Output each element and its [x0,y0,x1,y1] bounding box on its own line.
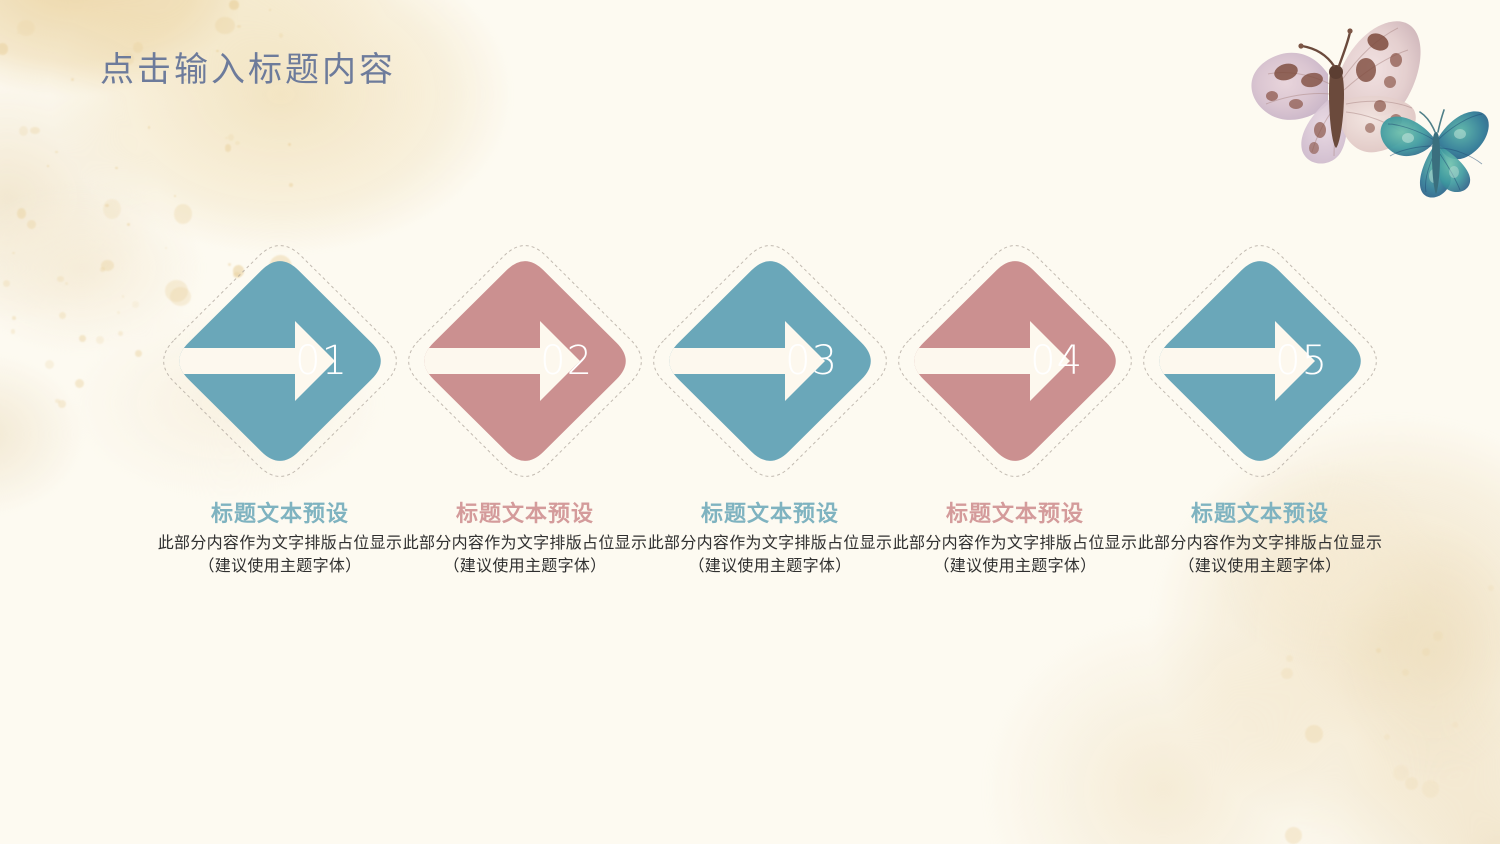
step-caption-body-line2: 位显示 [598,535,647,552]
step-caption-03: 标题文本预设此部分内容作为文字排版占位显示（建议使用主题字体） [646,500,894,578]
step-caption-heading: 标题文本预设 [646,500,894,528]
step-caption-heading: 标题文本预设 [156,500,404,528]
step-number: 05 [1275,341,1328,381]
step-number: 03 [785,341,838,381]
step-number: 02 [540,341,593,381]
process-step-05[interactable]: 05 [1130,232,1390,490]
step-caption-body-line1: 此部分内容作为文字排版占 [893,535,1089,552]
step-caption-05: 标题文本预设此部分内容作为文字排版占位显示（建议使用主题字体） [1136,500,1384,578]
step-caption-body-line3: （建议使用主题字体） [401,555,649,578]
process-steps-row: 0102030405 [0,232,1500,490]
step-caption-body-line1: 此部分内容作为文字排版占 [158,535,354,552]
step-caption-body-line2: 位显示 [843,535,892,552]
step-caption-body-line1: 此部分内容作为文字排版占 [648,535,844,552]
step-captions-row: 标题文本预设此部分内容作为文字排版占位显示（建议使用主题字体）标题文本预设此部分… [0,500,1500,630]
step-caption-body-line2: 位显示 [1088,535,1137,552]
step-caption-04: 标题文本预设此部分内容作为文字排版占位显示（建议使用主题字体） [891,500,1139,578]
step-caption-body-line3: （建议使用主题字体） [646,555,894,578]
step-caption-body: 此部分内容作为文字排版占位显示（建议使用主题字体） [646,532,894,578]
step-number: 04 [1030,341,1083,381]
step-caption-body: 此部分内容作为文字排版占位显示（建议使用主题字体） [401,532,649,578]
butterfly-decoration-group [1230,0,1500,200]
slide-canvas: 点击输入标题内容 0102030405 标题文本预设此部分内容作为文字排版占位显… [0,0,1500,844]
step-caption-heading: 标题文本预设 [891,500,1139,528]
step-caption-body: 此部分内容作为文字排版占位显示（建议使用主题字体） [891,532,1139,578]
step-diamond-graphic [395,232,655,490]
step-caption-body: 此部分内容作为文字排版占位显示（建议使用主题字体） [1136,532,1384,578]
step-caption-body: 此部分内容作为文字排版占位显示（建议使用主题字体） [156,532,404,578]
step-caption-body-line2: 位显示 [1333,535,1382,552]
step-caption-body-line3: （建议使用主题字体） [156,555,404,578]
step-diamond-graphic [640,232,900,490]
step-caption-body-line3: （建议使用主题字体） [891,555,1139,578]
step-caption-body-line1: 此部分内容作为文字排版占 [403,535,599,552]
step-caption-body-line3: （建议使用主题字体） [1136,555,1384,578]
process-step-04[interactable]: 04 [885,232,1145,490]
step-number: 01 [295,341,348,381]
step-caption-body-line1: 此部分内容作为文字排版占 [1138,535,1334,552]
butterfly-teal-icon [1381,110,1489,198]
step-caption-heading: 标题文本预设 [1136,500,1384,528]
step-caption-02: 标题文本预设此部分内容作为文字排版占位显示（建议使用主题字体） [401,500,649,578]
process-step-02[interactable]: 02 [395,232,655,490]
process-step-01[interactable]: 01 [150,232,410,490]
process-step-03[interactable]: 03 [640,232,900,490]
step-caption-body-line2: 位显示 [353,535,402,552]
step-caption-heading: 标题文本预设 [401,500,649,528]
page-title: 点击输入标题内容 [100,42,396,91]
step-diamond-graphic [885,232,1145,490]
step-diamond-graphic [150,232,410,490]
step-diamond-graphic [1130,232,1390,490]
step-caption-01: 标题文本预设此部分内容作为文字排版占位显示（建议使用主题字体） [156,500,404,578]
